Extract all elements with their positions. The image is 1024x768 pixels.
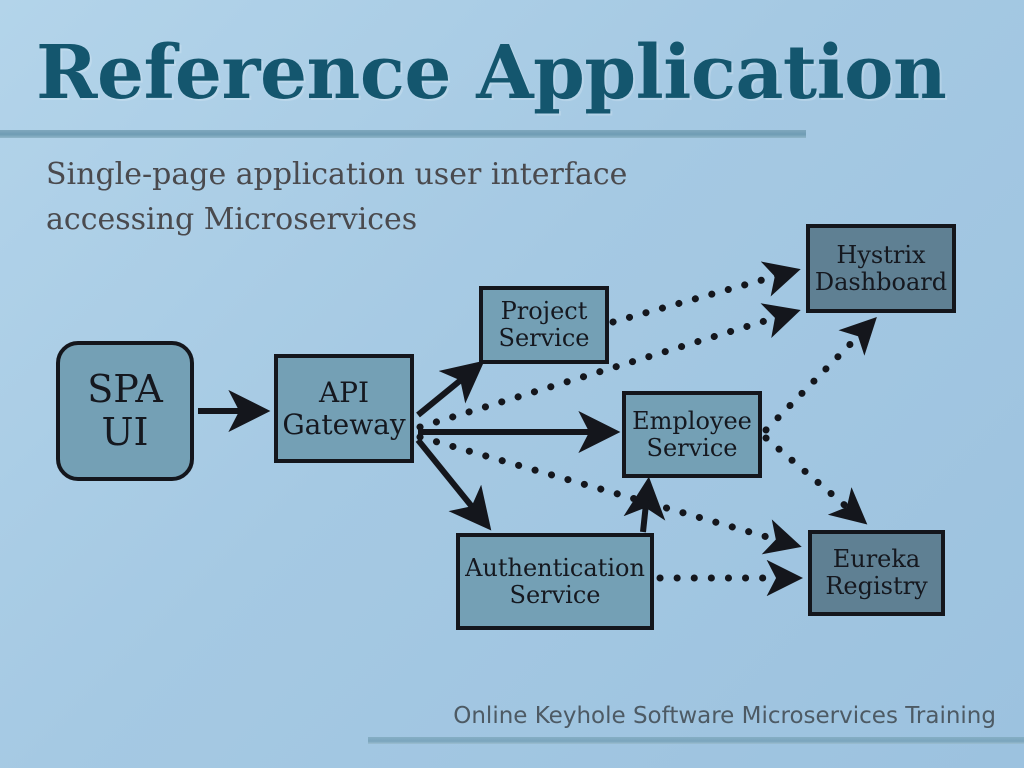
node-employee-service[interactable]: Employee Service [622,391,762,478]
node-hystrix-dashboard[interactable]: Hystrix Dashboard [806,224,956,313]
node-spa-ui[interactable]: SPAUI [56,341,194,481]
node-hystrix-dashboard-label: Hystrix Dashboard [810,242,952,296]
edge-api-to-project [418,366,478,415]
edge-employee-to-eureka [766,438,862,520]
node-api-gateway[interactable]: API Gateway [274,354,414,463]
footer-text: Online Keyhole Software Microservices Tr… [0,703,996,729]
edge-project-to-hystrix [613,271,794,322]
edge-api-to-auth [418,440,486,524]
node-eureka-registry-label: Eureka Registry [812,546,941,600]
footer-divider [368,737,1024,744]
node-spa-ui-label: SPAUI [87,368,163,453]
edge-employee-to-hystrix [766,322,872,430]
node-employee-service-label: Employee Service [626,408,758,462]
node-project-service[interactable]: Project Service [479,286,609,364]
node-authentication-service-label: Authentication Service [460,555,650,609]
node-authentication-service[interactable]: Authentication Service [456,533,654,630]
node-project-service-label: Project Service [483,298,605,352]
edge-auth-to-employee [643,485,648,532]
node-eureka-registry[interactable]: Eureka Registry [808,530,945,616]
node-api-gateway-label: API Gateway [278,377,410,440]
slide-canvas: Reference Application Single-page applic… [0,0,1024,768]
